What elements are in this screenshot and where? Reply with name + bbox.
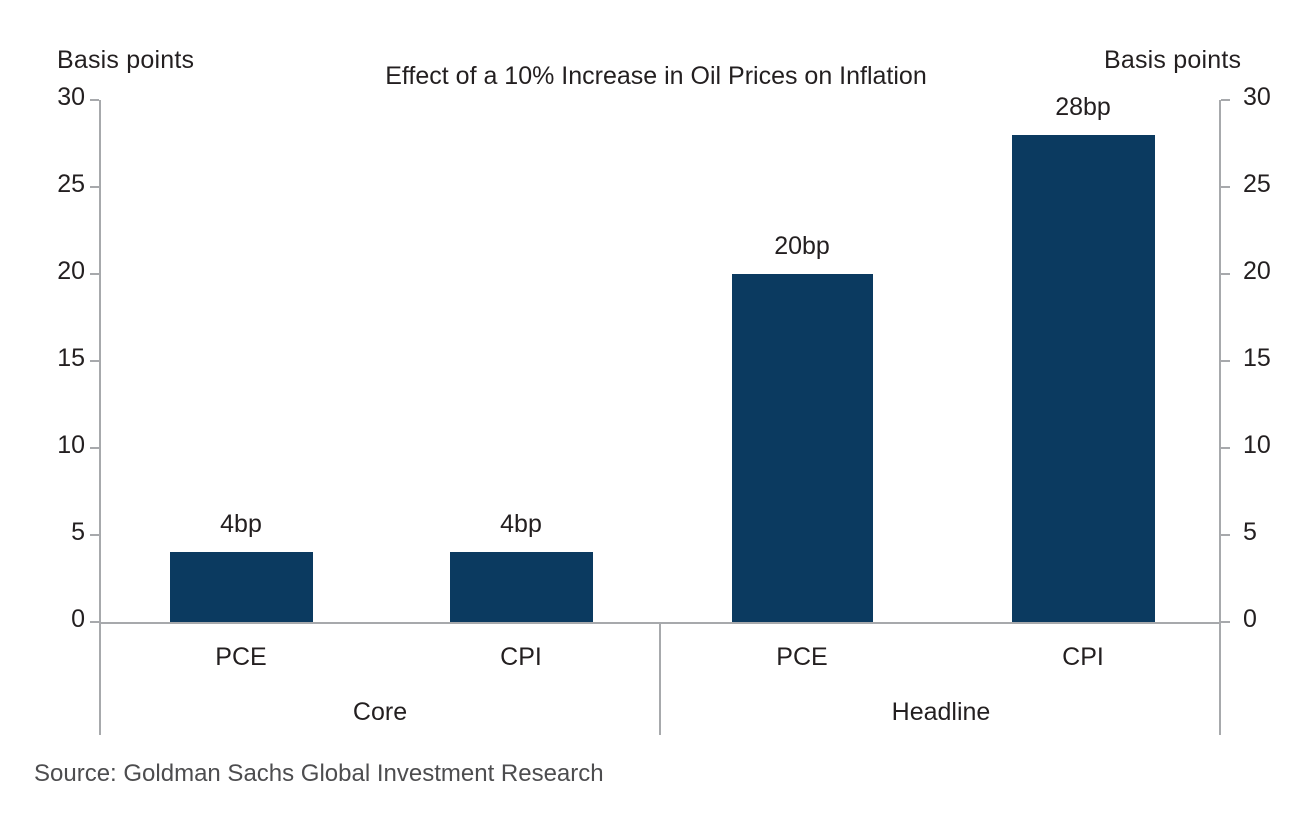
chart-title: Effect of a 10% Increase in Oil Prices o…	[0, 62, 1312, 91]
bar-value-label-core-cpi: 4bp	[441, 510, 601, 539]
group-divider-line	[659, 623, 661, 735]
tick-label-left-30: 30	[57, 83, 85, 112]
tick-label-right-30: 30	[1243, 83, 1271, 112]
source-note: Source: Goldman Sachs Global Investment …	[34, 760, 604, 788]
category-label-headline-cpi: CPI	[1003, 643, 1163, 672]
bar-headline-pce[interactable]	[732, 274, 873, 622]
tick-mark-left-0	[90, 621, 99, 623]
bar-core-pce[interactable]	[170, 552, 313, 622]
tick-mark-left-5	[90, 534, 99, 536]
tick-mark-left-20	[90, 273, 99, 275]
tick-mark-left-25	[90, 186, 99, 188]
category-label-core-cpi: CPI	[441, 643, 601, 672]
tick-mark-right-0	[1221, 621, 1230, 623]
left-axis-line	[99, 100, 101, 735]
tick-label-right-0: 0	[1243, 605, 1257, 634]
tick-label-right-5: 5	[1243, 518, 1257, 547]
tick-mark-right-30	[1221, 99, 1230, 101]
tick-label-right-25: 25	[1243, 170, 1271, 199]
tick-mark-right-5	[1221, 534, 1230, 536]
tick-label-left-15: 15	[57, 344, 85, 373]
tick-mark-right-15	[1221, 360, 1230, 362]
bar-value-label-core-pce: 4bp	[161, 510, 321, 539]
tick-label-left-25: 25	[57, 170, 85, 199]
tick-mark-right-20	[1221, 273, 1230, 275]
chart-container: Basis points Basis points Effect of a 10…	[0, 0, 1312, 826]
category-label-core-pce: PCE	[161, 643, 321, 672]
tick-label-left-20: 20	[57, 257, 85, 286]
tick-mark-right-10	[1221, 447, 1230, 449]
tick-mark-left-10	[90, 447, 99, 449]
group-label-headline: Headline	[821, 698, 1061, 727]
right-axis-line	[1219, 100, 1221, 735]
tick-label-left-0: 0	[71, 605, 85, 634]
bar-headline-cpi[interactable]	[1012, 135, 1155, 622]
tick-mark-left-30	[90, 99, 99, 101]
bar-value-label-headline-cpi: 28bp	[1003, 93, 1163, 122]
tick-label-left-5: 5	[71, 518, 85, 547]
tick-label-right-15: 15	[1243, 344, 1271, 373]
tick-label-left-10: 10	[57, 431, 85, 460]
tick-mark-right-25	[1221, 186, 1230, 188]
bar-value-label-headline-pce: 20bp	[722, 232, 882, 261]
category-label-headline-pce: PCE	[722, 643, 882, 672]
tick-label-right-20: 20	[1243, 257, 1271, 286]
group-label-core: Core	[260, 698, 500, 727]
bar-core-cpi[interactable]	[450, 552, 593, 622]
tick-mark-left-15	[90, 360, 99, 362]
tick-label-right-10: 10	[1243, 431, 1271, 460]
